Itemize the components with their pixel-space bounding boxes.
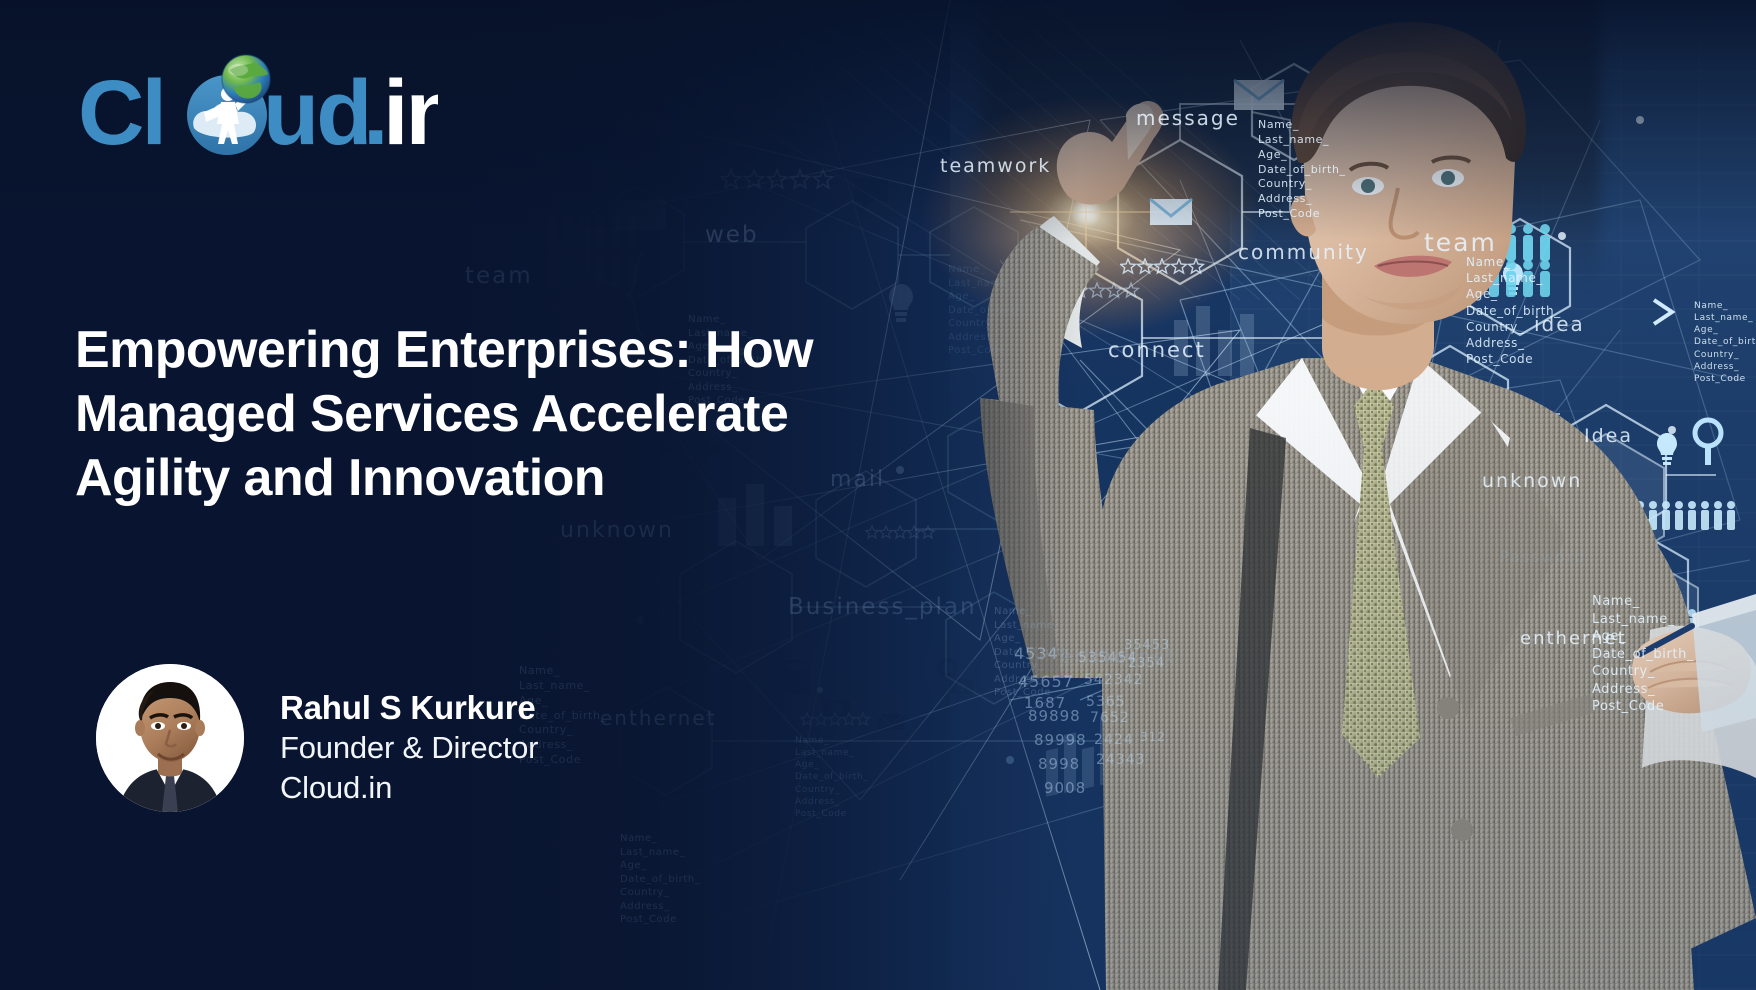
tech-label-unknown: unknown xyxy=(1482,470,1582,492)
tech-label-business-plan: Business_plan xyxy=(788,594,977,620)
page-title: Empowering Enterprises: How Managed Serv… xyxy=(75,318,955,510)
headline-line-3: Agility and Innovation xyxy=(75,446,955,510)
tech-label-web: web xyxy=(705,222,759,248)
floating-number: 2424 xyxy=(1094,732,1134,748)
floating-number: 24343 xyxy=(1096,752,1146,768)
floating-number: 542342 xyxy=(1084,672,1143,688)
headline-line-1: Empowering Enterprises: How xyxy=(75,318,955,382)
blog-banner: locked xyxy=(0,0,1756,990)
cloud-in-logo[interactable]: Cl ud xyxy=(78,52,438,162)
author-text-group: Rahul S Kurkure Founder & Director Cloud… xyxy=(280,664,538,808)
floating-number: 45657 xyxy=(1018,672,1074,691)
data-fields-block: Name_ Last_name_ Age_ Date_of_birth_ Cou… xyxy=(1592,593,1694,716)
data-fields-block: Name_ Last_name_ Age_ Date_of_birth_ Cou… xyxy=(948,263,1028,358)
floating-number: 2354 xyxy=(1128,656,1165,671)
floating-number: 8998 xyxy=(1038,755,1080,773)
floating-number: 89898 xyxy=(1028,707,1081,725)
tech-label-message: message xyxy=(1136,106,1240,130)
floating-number: 35453 xyxy=(1124,638,1170,653)
headline-line-2: Managed Services Accelerate xyxy=(75,382,955,446)
tech-label-enthernet: enthernet xyxy=(600,706,717,730)
avatar xyxy=(96,664,244,812)
logo-text-in: in xyxy=(383,62,438,162)
tech-label-password: Password xyxy=(1500,548,1586,566)
floating-number: 312 xyxy=(1140,730,1166,744)
tech-label-team: team xyxy=(465,263,533,289)
logo-text-ud: ud xyxy=(263,62,369,162)
tech-label-connect: connect xyxy=(1108,338,1206,362)
author-role: Founder & Director xyxy=(280,728,538,768)
data-fields-block: Name_ Last_name_ Age_ Date_of_birth_ Cou… xyxy=(795,735,868,820)
data-fields-block: Name_ Last_name_ Age_ Date_of_birth_ Cou… xyxy=(1694,300,1756,385)
floating-number: 7652 xyxy=(1090,710,1130,726)
author-block: Rahul S Kurkure Founder & Director Cloud… xyxy=(96,664,538,812)
author-company: Cloud.in xyxy=(280,768,538,808)
tech-label-idea: Idea xyxy=(1584,425,1633,447)
tech-label-teamwork: teamwork xyxy=(940,155,1051,177)
floating-number: 9008 xyxy=(1044,779,1086,797)
data-fields-block: Name_ Last_name_ Age_ Date_of_birth_ Cou… xyxy=(1258,118,1346,222)
floating-number: 5365 xyxy=(1086,694,1126,710)
floating-number: 89998 xyxy=(1034,731,1087,749)
logo-text-cl: Cl xyxy=(78,62,164,162)
data-fields-block: Name_ Last_name_ Age_ Date_of_birth_ Cou… xyxy=(620,832,700,927)
tech-label-community: community xyxy=(1238,240,1369,264)
tech-label-unknown: unknown xyxy=(560,518,674,543)
floating-number: 4534 xyxy=(1014,644,1059,663)
author-name: Rahul S Kurkure xyxy=(280,688,538,728)
data-fields-block: Name_ Last_name_ Age_ Date_of_birth_ Cou… xyxy=(1466,254,1561,367)
tech-label-team: team xyxy=(1424,228,1497,257)
